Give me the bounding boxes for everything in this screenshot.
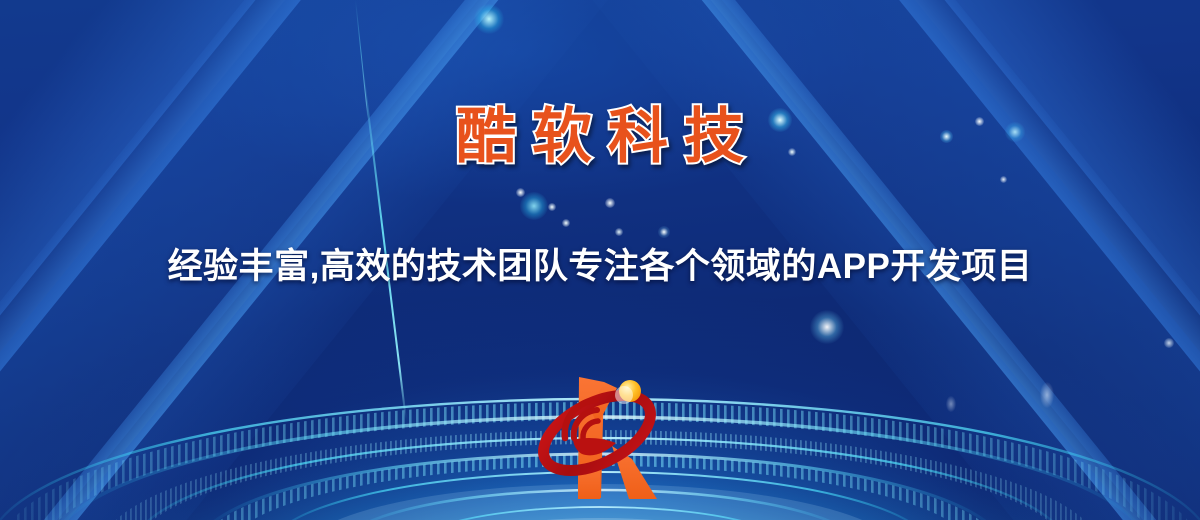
logo-accent-dot-glow xyxy=(615,386,633,404)
glow-particle-icon xyxy=(768,108,792,132)
glow-particle-icon xyxy=(788,148,796,156)
glow-particle-icon xyxy=(658,226,670,238)
glow-particle-icon xyxy=(605,198,615,208)
glow-particle-icon xyxy=(975,117,984,126)
glow-particle-icon xyxy=(1164,338,1174,348)
subtitle-container: 经验丰富,高效的技术团队专注各个领域的APP开发项目 xyxy=(0,246,1200,288)
glow-particle-icon xyxy=(615,228,623,236)
glow-particle-icon xyxy=(1005,122,1025,142)
glow-particle-icon xyxy=(548,203,556,211)
glow-particle-icon xyxy=(474,4,504,34)
page-subtitle: 经验丰富,高效的技术团队专注各个领域的APP开发项目 xyxy=(168,246,1033,288)
glow-particle-icon xyxy=(810,310,844,344)
glow-particle-icon xyxy=(562,219,570,227)
glow-particle-icon xyxy=(516,188,525,197)
k-orbit-logo-icon xyxy=(520,358,690,520)
glow-particle-icon xyxy=(1040,382,1054,408)
glow-particle-icon xyxy=(946,396,956,412)
hero-banner: 酷软科技 经验丰富,高效的技术团队专注各个领域的APP开发项目 xyxy=(0,0,1200,520)
glow-particle-icon xyxy=(520,192,548,220)
glow-particle-icon xyxy=(940,130,953,143)
glow-particle-icon xyxy=(1000,176,1007,183)
